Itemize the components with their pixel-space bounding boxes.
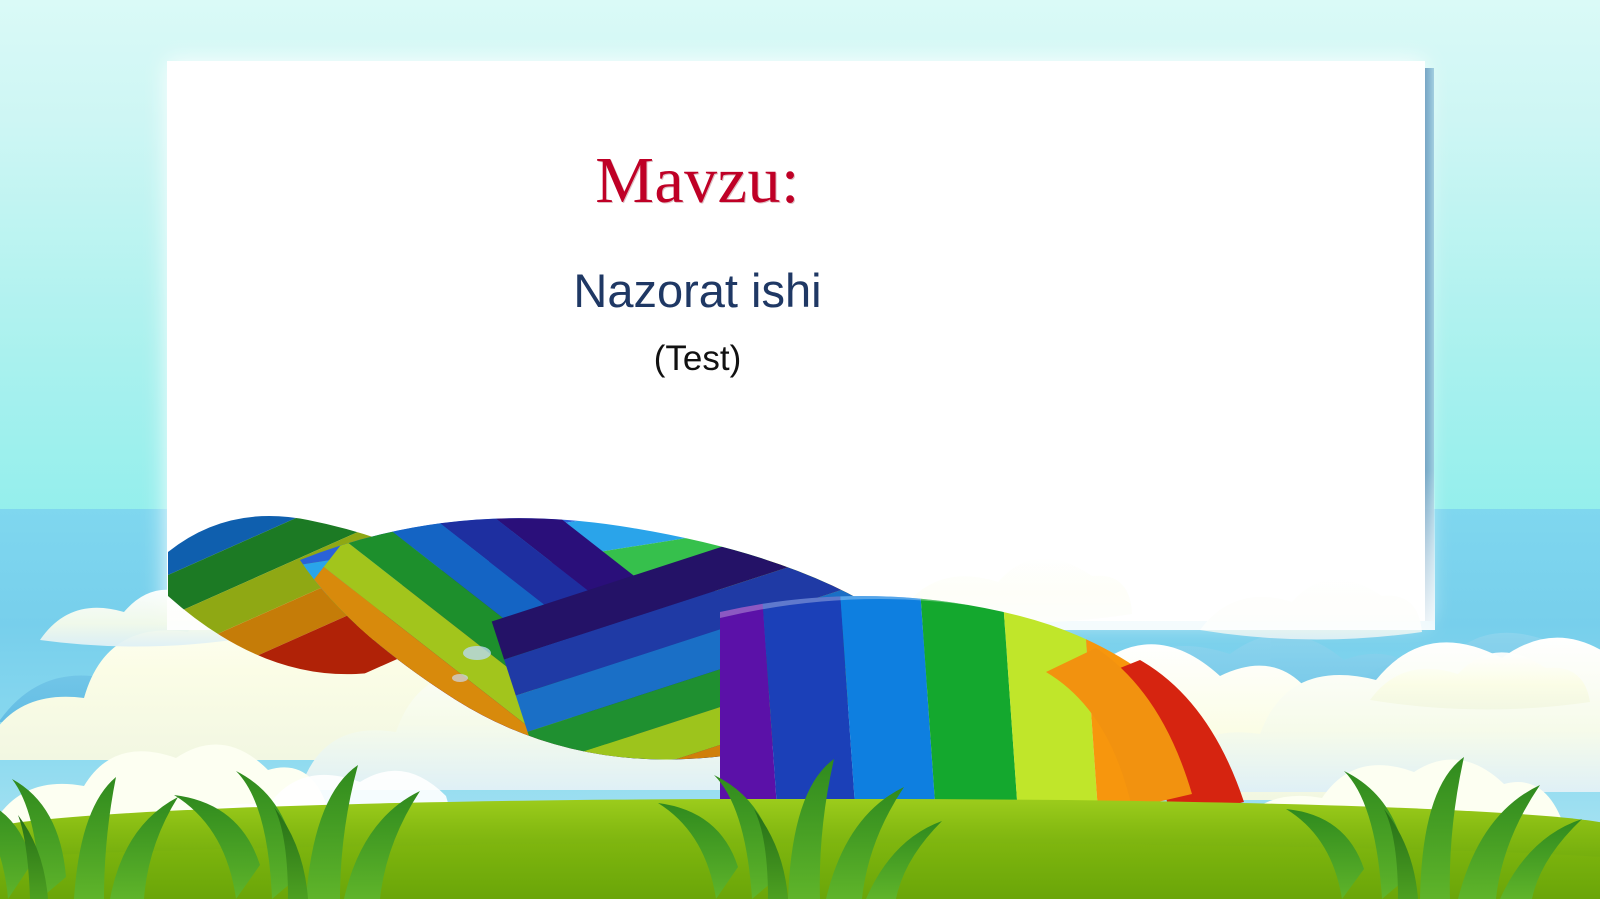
grass-tuft xyxy=(1286,757,1582,899)
grass-tuft xyxy=(0,777,178,899)
slide-title: Mavzu: xyxy=(0,148,1395,214)
slide-subtitle: Nazorat ishi xyxy=(0,265,1395,317)
slide-stage: Mavzu: Nazorat ishi (Test) xyxy=(0,0,1600,899)
slide-note: (Test) xyxy=(0,340,1395,379)
grass-tuft xyxy=(174,765,420,899)
grass-tuft xyxy=(658,759,942,899)
grass-tuft-layer xyxy=(0,0,1600,899)
